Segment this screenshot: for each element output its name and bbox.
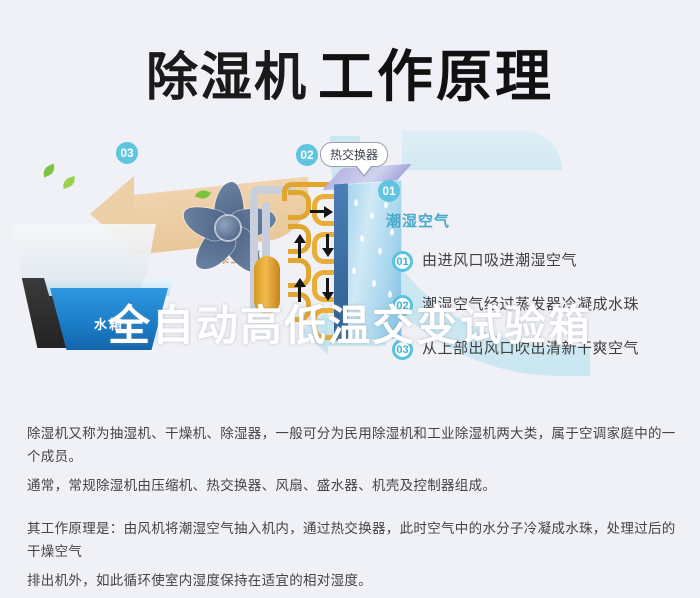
page-title-part2: 工作原理	[318, 45, 554, 108]
flow-arrow-up-head	[294, 278, 306, 287]
compressor-icon	[254, 256, 280, 314]
step-list: 01 由进风口吸进潮湿空气 02 潮湿空气经过蒸发器冷凝成水珠 03 从上部出风…	[392, 250, 692, 382]
step-item: 02 潮湿空气经过蒸发器冷凝成水珠	[392, 294, 692, 338]
fan-hub	[216, 216, 240, 240]
leaf-icon	[61, 176, 77, 189]
step-item: 03 从上部出风口吹出清新干爽空气	[392, 338, 692, 382]
water-tank: 水箱	[50, 288, 168, 350]
step-number-badge: 03	[392, 339, 413, 360]
step-number-badge: 02	[392, 295, 413, 316]
water-tank-label: 水箱	[50, 314, 168, 333]
description-text: 除湿机又称为抽湿机、干燥机、除湿器，一般可分为民用除湿机和工业除湿机两大类，属于…	[27, 422, 677, 598]
leaf-icon	[41, 163, 57, 177]
flow-arrow-down-head	[322, 248, 334, 257]
evaporator-side-panel	[334, 184, 348, 341]
paragraph-1-line-1: 除湿机又称为抽湿机、干燥机、除湿器，一般可分为民用除湿机和工业除湿机两大类，属于…	[27, 422, 677, 468]
badge-step-02: 02	[296, 144, 318, 166]
condenser-coil-column	[288, 190, 306, 340]
step-number-badge: 01	[392, 251, 413, 272]
page-title: 除湿机工作原理	[0, 32, 700, 113]
flow-arrow-down-head	[322, 292, 334, 301]
paragraph-2-line-2: 排出机外，如此循环使室内湿度保持在适宜的相对湿度。	[27, 569, 677, 592]
step-text: 从上部出风口吹出清新干爽空气	[422, 337, 639, 358]
poster-root: 除湿机工作原理 干燥空气	[0, 0, 700, 566]
heat-exchanger-callout: 热交换器	[320, 142, 388, 167]
step-item: 01 由进风口吸进潮湿空气	[392, 250, 692, 294]
flow-arrow-up-head	[294, 234, 306, 243]
flow-arrow-up	[298, 286, 301, 302]
paragraph-gap	[27, 503, 677, 517]
flow-arrow-up	[298, 242, 301, 258]
step-text: 潮湿空气经过蒸发器冷凝成水珠	[422, 293, 639, 314]
machine-internals	[248, 168, 378, 363]
badge-step-03: 03	[116, 142, 138, 164]
badge-step-01: 01	[378, 180, 400, 202]
flow-arrow-right-head	[324, 206, 333, 218]
coil-bend	[288, 190, 311, 220]
page-title-part1: 除湿机	[146, 49, 308, 107]
paragraph-2-line-1: 其工作原理是：由风机将潮湿空气抽入机内，通过热交换器，此时空气中的水分子冷凝成水…	[27, 517, 677, 563]
paragraph-1-line-2: 通常，常规除湿机由压缩机、热交换器、风扇、盛水器、机壳及控制器组成。	[27, 474, 677, 497]
humid-air-label: 潮湿空气	[386, 210, 450, 231]
step-text: 由进风口吸进潮湿空气	[422, 249, 577, 270]
